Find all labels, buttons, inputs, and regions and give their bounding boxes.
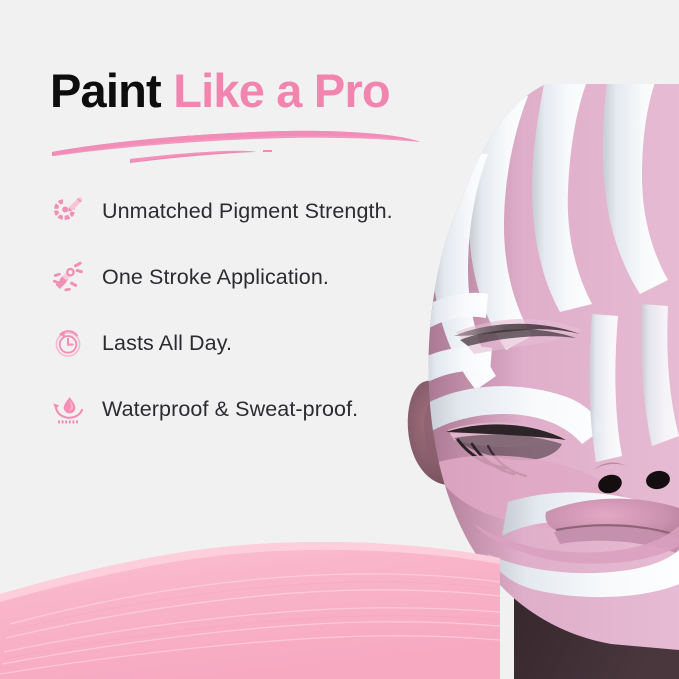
feature-label: Unmatched Pigment Strength. (102, 199, 393, 224)
feature-label: One Stroke Application. (102, 265, 329, 290)
clock-refresh-icon (46, 321, 90, 365)
brush-stroke-icon (46, 255, 90, 299)
water-repel-icon (46, 387, 90, 431)
feature-row: Lasts All Day. (46, 310, 466, 376)
brush-swoosh-underline-icon (48, 128, 428, 168)
pink-paint-swatch (0, 528, 500, 679)
feature-row: One Stroke Application. (46, 244, 466, 310)
headline-part-dark: Paint (50, 64, 161, 117)
feature-label: Waterproof & Sweat-proof. (102, 397, 358, 422)
feature-list: Unmatched Pigment Strength. (46, 178, 466, 442)
feature-label: Lasts All Day. (102, 331, 232, 356)
headline-block: Paint Like a Pro (50, 66, 470, 116)
feature-row: Unmatched Pigment Strength. (46, 178, 466, 244)
page-title: Paint Like a Pro (50, 66, 470, 116)
palette-brush-icon (46, 189, 90, 233)
feature-row: Waterproof & Sweat-proof. (46, 376, 466, 442)
promo-banner: Paint Like a Pro (0, 0, 679, 679)
headline-part-accent: Like a Pro (173, 64, 390, 117)
